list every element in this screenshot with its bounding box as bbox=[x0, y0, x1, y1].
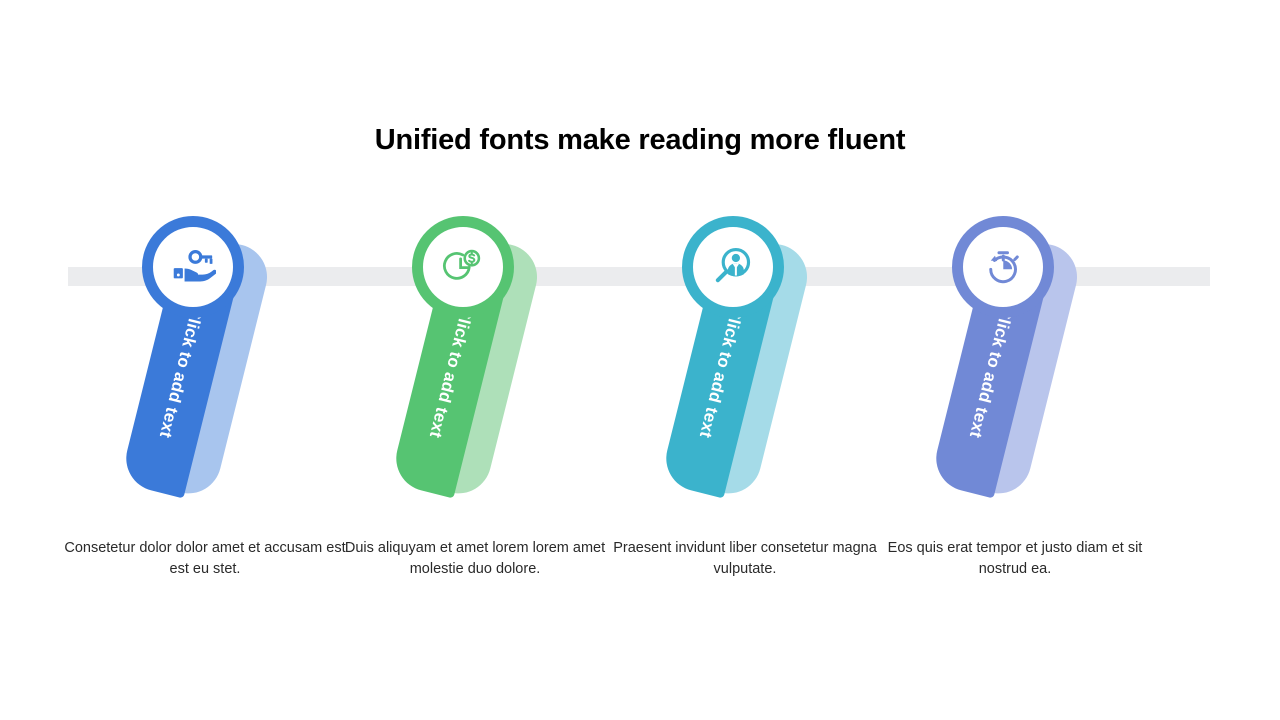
slide-canvas: Unified fonts make reading more fluent C… bbox=[0, 0, 1280, 720]
infographic-item[interactable]: Click to add text bbox=[880, 0, 1150, 720]
clock-dollar-icon bbox=[440, 244, 486, 290]
items-row: Click to add text bbox=[0, 0, 1280, 720]
icon-circle[interactable] bbox=[952, 216, 1054, 318]
infographic-item[interactable]: Click to add text bbox=[610, 0, 880, 720]
stopwatch-rewind-icon bbox=[980, 244, 1026, 290]
item-caption: Praesent invidunt liber consetetur magna… bbox=[602, 538, 888, 580]
icon-circle[interactable] bbox=[682, 216, 784, 318]
item-caption: Eos quis erat tempor et justo diam et si… bbox=[872, 538, 1158, 580]
item-caption: Duis aliquyam et amet lorem lorem amet m… bbox=[332, 538, 618, 580]
magnifier-person-search-icon bbox=[710, 244, 756, 290]
infographic-item[interactable]: Click to add text bbox=[340, 0, 610, 720]
hand-holding-key-icon bbox=[170, 244, 216, 290]
icon-circle[interactable] bbox=[412, 216, 514, 318]
infographic-item[interactable]: Click to add text bbox=[70, 0, 340, 720]
icon-circle[interactable] bbox=[142, 216, 244, 318]
item-caption: Consetetur dolor dolor amet et accusam e… bbox=[62, 538, 348, 580]
